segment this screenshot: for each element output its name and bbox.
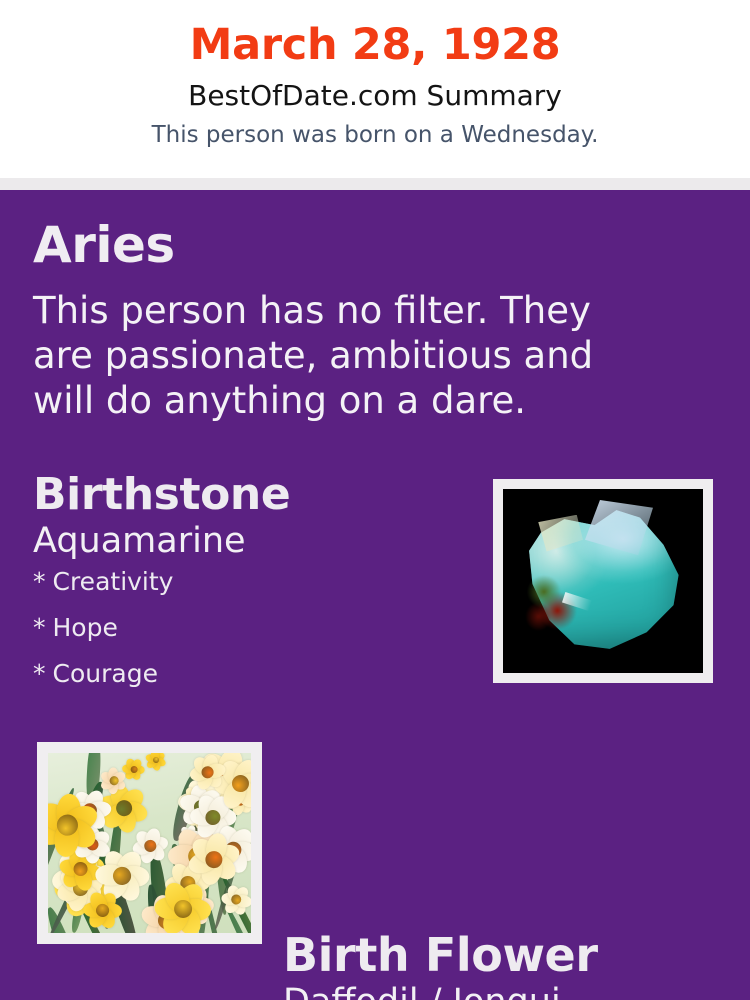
birth-flower-heading: Birth Flower	[283, 932, 733, 978]
birthstone-name: Aquamarine	[33, 517, 473, 560]
trait-label: Hope	[53, 613, 118, 642]
list-item: *Creativity	[33, 569, 473, 615]
site-summary-label: BestOfDate.com Summary	[0, 67, 750, 110]
summary-card: March 28, 1928 BestOfDate.com Summary Th…	[0, 0, 750, 1000]
daffodil-bloom	[142, 753, 170, 774]
header-divider	[0, 178, 750, 190]
zodiac-description: This person has no filter. They are pass…	[33, 270, 653, 423]
zodiac-section: Aries This person has no filter. They ar…	[33, 220, 673, 423]
trait-label: Courage	[53, 659, 158, 688]
birthstone-heading: Birthstone	[33, 473, 473, 517]
zodiac-sign-name: Aries	[33, 220, 673, 270]
aquamarine-crystal-image	[503, 489, 703, 673]
birthstone-section: Birthstone Aquamarine *Creativity *Hope …	[33, 473, 473, 707]
born-day-note: This person was born on a Wednesday.	[0, 110, 750, 147]
corona-cup	[205, 809, 221, 825]
list-item: *Courage	[33, 661, 473, 707]
list-item: *Hope	[33, 615, 473, 661]
bullet-star-icon: *	[33, 569, 53, 594]
page-title: March 28, 1928	[0, 0, 750, 67]
daffodil-flowers-image	[48, 753, 251, 933]
birthstone-image-frame	[493, 479, 713, 683]
header: March 28, 1928 BestOfDate.com Summary Th…	[0, 0, 750, 178]
trait-label: Creativity	[53, 567, 174, 596]
bullet-star-icon: *	[33, 661, 53, 686]
birth-flower-section: Birth Flower Daffodil / Jonqui *New begi…	[283, 932, 733, 1000]
birthstone-trait-list: *Creativity *Hope *Courage	[33, 560, 473, 707]
bullet-star-icon: *	[33, 615, 53, 640]
birth-flower-name: Daffodil / Jonqui	[283, 978, 733, 1000]
birth-flower-image-frame	[37, 742, 262, 944]
